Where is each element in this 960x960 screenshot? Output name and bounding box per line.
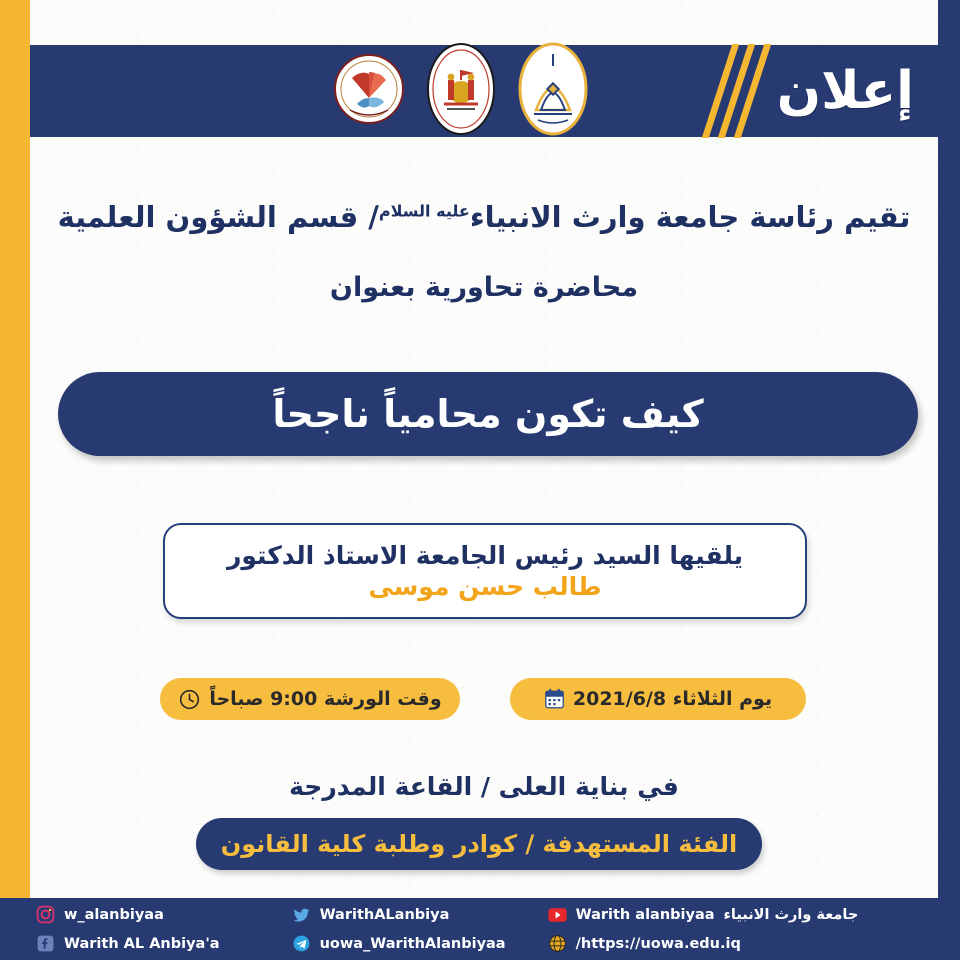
organizer-line: تقيم رئاسة جامعة وارث الانبياءعليه السلا… <box>30 200 938 234</box>
time-badge-text: وقت الورشة 9:00 صباحاً <box>209 688 441 710</box>
instagram-icon <box>36 905 55 924</box>
footer-telegram-row[interactable]: uowa_WarithAlanbiyaa <box>292 933 506 955</box>
logo-group <box>330 40 592 138</box>
facebook-icon <box>36 934 55 953</box>
al-abbas-holy-shrine-logo <box>422 40 500 138</box>
youtube-handle: Warith alanbiyaa <box>576 907 715 923</box>
footer-column-1: w_alanbiyaa Warith AL Anbiya'a <box>36 898 220 960</box>
event-type-line: محاضرة تحاورية بعنوان <box>30 272 938 303</box>
facebook-handle: Warith AL Anbiya'a <box>64 936 220 952</box>
youtube-handle-arabic: جامعة وارث الانبياء <box>724 907 859 923</box>
background-pattern <box>0 0 960 960</box>
page-title: إعلان <box>777 48 914 134</box>
lecture-title-text: كيف تكون محامياً ناجحاً <box>272 392 703 436</box>
footer-youtube-row[interactable]: Warith alanbiyaa جامعة وارث الانبياء <box>548 904 859 926</box>
calendar-icon <box>544 688 565 710</box>
telegram-handle: uowa_WarithAlanbiyaa <box>320 936 506 952</box>
footer-facebook-row[interactable]: Warith AL Anbiya'a <box>36 933 220 955</box>
footer-social-bar: w_alanbiyaa Warith AL Anbiya'a <box>0 898 960 960</box>
speaker-role-text: يلقيها السيد رئيس الجامعة الاستاذ الدكتو… <box>227 541 743 570</box>
date-badge: يوم الثلاثاء 2021/6/8 <box>510 678 806 720</box>
twitter-icon <box>292 905 311 924</box>
target-audience-pill: الفئة المستهدفة / كوادر وطلبة كلية القان… <box>196 818 762 870</box>
clock-icon <box>178 688 201 711</box>
footer-column-3: Warith alanbiyaa جامعة وارث الانبياء /ht… <box>548 898 859 960</box>
ministry-higher-education-logo <box>330 40 408 138</box>
organizer-text-part2: / قسم الشؤون العلمية <box>58 200 379 234</box>
left-gold-strip <box>0 0 30 900</box>
footer-instagram-row[interactable]: w_alanbiyaa <box>36 904 220 926</box>
location-text: في بناية العلى / القاعة المدرجة <box>30 772 938 801</box>
right-navy-strip <box>938 0 960 960</box>
globe-icon <box>548 934 567 953</box>
telegram-icon <box>292 934 311 953</box>
twitter-handle: WarithALanbiya <box>320 907 450 923</box>
date-badge-text: يوم الثلاثاء 2021/6/8 <box>573 688 772 710</box>
footer-twitter-row[interactable]: WarithALanbiya <box>292 904 506 926</box>
instagram-handle: w_alanbiyaa <box>64 907 164 923</box>
speaker-box: يلقيها السيد رئيس الجامعة الاستاذ الدكتو… <box>163 523 807 619</box>
university-warith-alanbiya-logo <box>514 40 592 138</box>
gold-diagonal-stripes-icon <box>696 48 760 134</box>
target-audience-text: الفئة المستهدفة / كوادر وطلبة كلية القان… <box>221 830 738 858</box>
time-badge: وقت الورشة 9:00 صباحاً <box>160 678 460 720</box>
speaker-name-text: طالب حسن موسى <box>368 572 601 601</box>
organizer-text-part1: تقيم رئاسة جامعة وارث الانبياء <box>470 200 911 234</box>
footer-column-2: WarithALanbiya uowa_WarithAlanbiyaa <box>292 898 506 960</box>
website-url: /https://uowa.edu.iq <box>576 936 741 952</box>
lecture-title-pill: كيف تكون محامياً ناجحاً <box>58 372 918 456</box>
announcement-poster: إعلان <box>0 0 960 960</box>
footer-website-row[interactable]: /https://uowa.edu.iq <box>548 933 859 955</box>
peace-be-upon-him-text: عليه السلام <box>379 201 470 220</box>
youtube-icon <box>548 905 567 924</box>
